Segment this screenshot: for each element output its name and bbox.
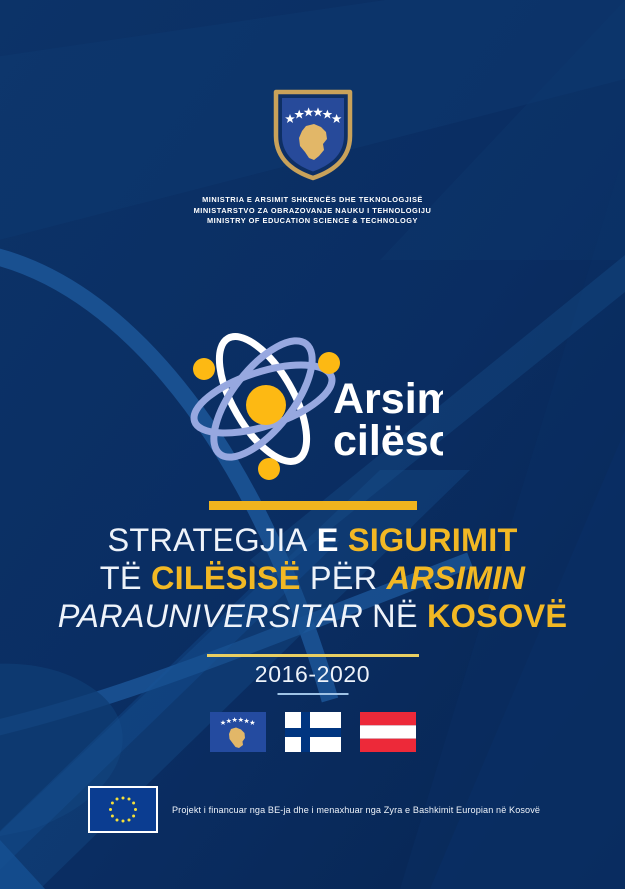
ministry-name-sq: MINISTRIA E ARSIMIT SHKENCËS DHE TEKNOLO… [0,195,625,206]
ministry-emblem-block: MINISTRIA E ARSIMIT SHKENCËS DHE TEKNOLO… [0,86,625,227]
title-word: TË [100,560,142,596]
eu-funding-caption: Projekt i financuar nga BE-ja dhe i mena… [172,805,540,815]
kosovo-flag-icon [210,712,266,752]
page-title: STRATEGJIA E SIGURIMIT TË CILËSISË PËR A… [0,521,625,635]
gold-accent-bar [209,501,417,510]
partner-flags [0,712,625,752]
period-years: 2016-2020 [0,661,625,688]
document-cover: MINISTRIA E ARSIMIT SHKENCËS DHE TEKNOLO… [0,0,625,889]
title-word: E [317,522,339,558]
title-word: ARSIMIN [387,560,526,596]
atom-electron [318,352,340,374]
finland-flag-icon [285,712,341,752]
atom-nucleus [246,385,286,425]
ministry-names: MINISTRIA E ARSIMIT SHKENCËS DHE TEKNOLO… [0,195,625,227]
year-rule-bottom [277,693,348,695]
ministry-name-sr: MINISTARSTVO ZA OBRAZOVANJE NAUKU I TEHN… [0,206,625,217]
title-line-1: STRATEGJIA E SIGURIMIT [0,521,625,559]
title-word: PËR [310,560,377,596]
title-word: KOSOVË [427,598,567,634]
atom-electron [193,358,215,380]
arsim-cilesor-logo-block: Arsim cilësor [0,327,625,487]
atom-electron [258,458,280,480]
logo-word-line2: cilësor [333,417,443,465]
kosovo-coat-of-arms-icon [271,86,355,182]
ministry-name-en: MINISTRY OF EDUCATION SCIENCE & TECHNOLO… [0,216,625,227]
year-rule-top [207,654,419,657]
title-line-3: PARAUNIVERSITAR NË KOSOVË [0,597,625,635]
title-word: STRATEGJIA [107,522,307,558]
european-union-flag-icon [88,786,158,833]
title-word: SIGURIMIT [348,522,518,558]
title-line-2: TË CILËSISË PËR ARSIMIN [0,559,625,597]
eu-funding-footer: Projekt i financuar nga BE-ja dhe i mena… [88,786,540,833]
title-word: CILËSISË [151,560,301,596]
logo-word-line1: Arsim [333,375,443,423]
title-word: PARAUNIVERSITAR [58,598,363,634]
title-word: NË [372,598,418,634]
atom-icon: Arsim cilësor [183,327,443,482]
austria-flag-icon [360,712,416,752]
